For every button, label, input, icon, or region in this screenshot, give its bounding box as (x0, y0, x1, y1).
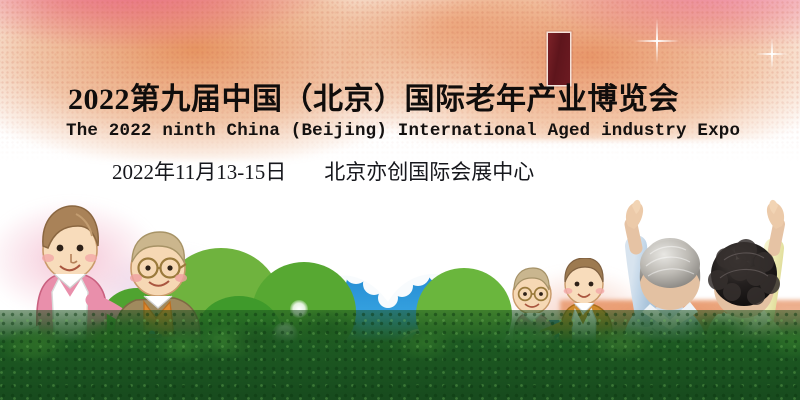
event-venue: 北京亦创国际会展中心 (324, 160, 534, 184)
caregiver-and-elderly-man-illustration (14, 196, 210, 376)
page-title-english: The 2022 ninth China (Beijing) Internati… (0, 118, 800, 144)
butterfly-icon (412, 329, 449, 357)
dry-grass-clump (320, 316, 390, 400)
event-date: 2022年11月13-15日 (112, 160, 286, 184)
flat-tree (252, 262, 356, 358)
headline-block: 2022第九届中国（北京）国际老年产业博览会 The 2022 ninth Ch… (0, 82, 800, 186)
elderly-couple-pointing-upward (606, 196, 800, 400)
dandelion-puff (290, 300, 308, 318)
event-date-and-venue: 2022年11月13-15日北京亦创国际会展中心 (0, 144, 800, 186)
dandelion-puff (272, 322, 298, 348)
tree-trunk (214, 336, 223, 370)
page-title-chinese: 2022第九届中国（北京）国际老年产业博览会 (0, 82, 800, 118)
red-seal-bar (548, 33, 570, 85)
soap-bubble (400, 330, 440, 370)
sparkle-glint-icon (756, 38, 788, 70)
expo-promo-banner: 2022第九届中国（北京）国际老年产业博览会 The 2022 ninth Ch… (0, 0, 800, 400)
sparkle-glint-icon (634, 18, 680, 64)
sky-opening (300, 258, 510, 400)
tree-trunk (300, 342, 308, 372)
